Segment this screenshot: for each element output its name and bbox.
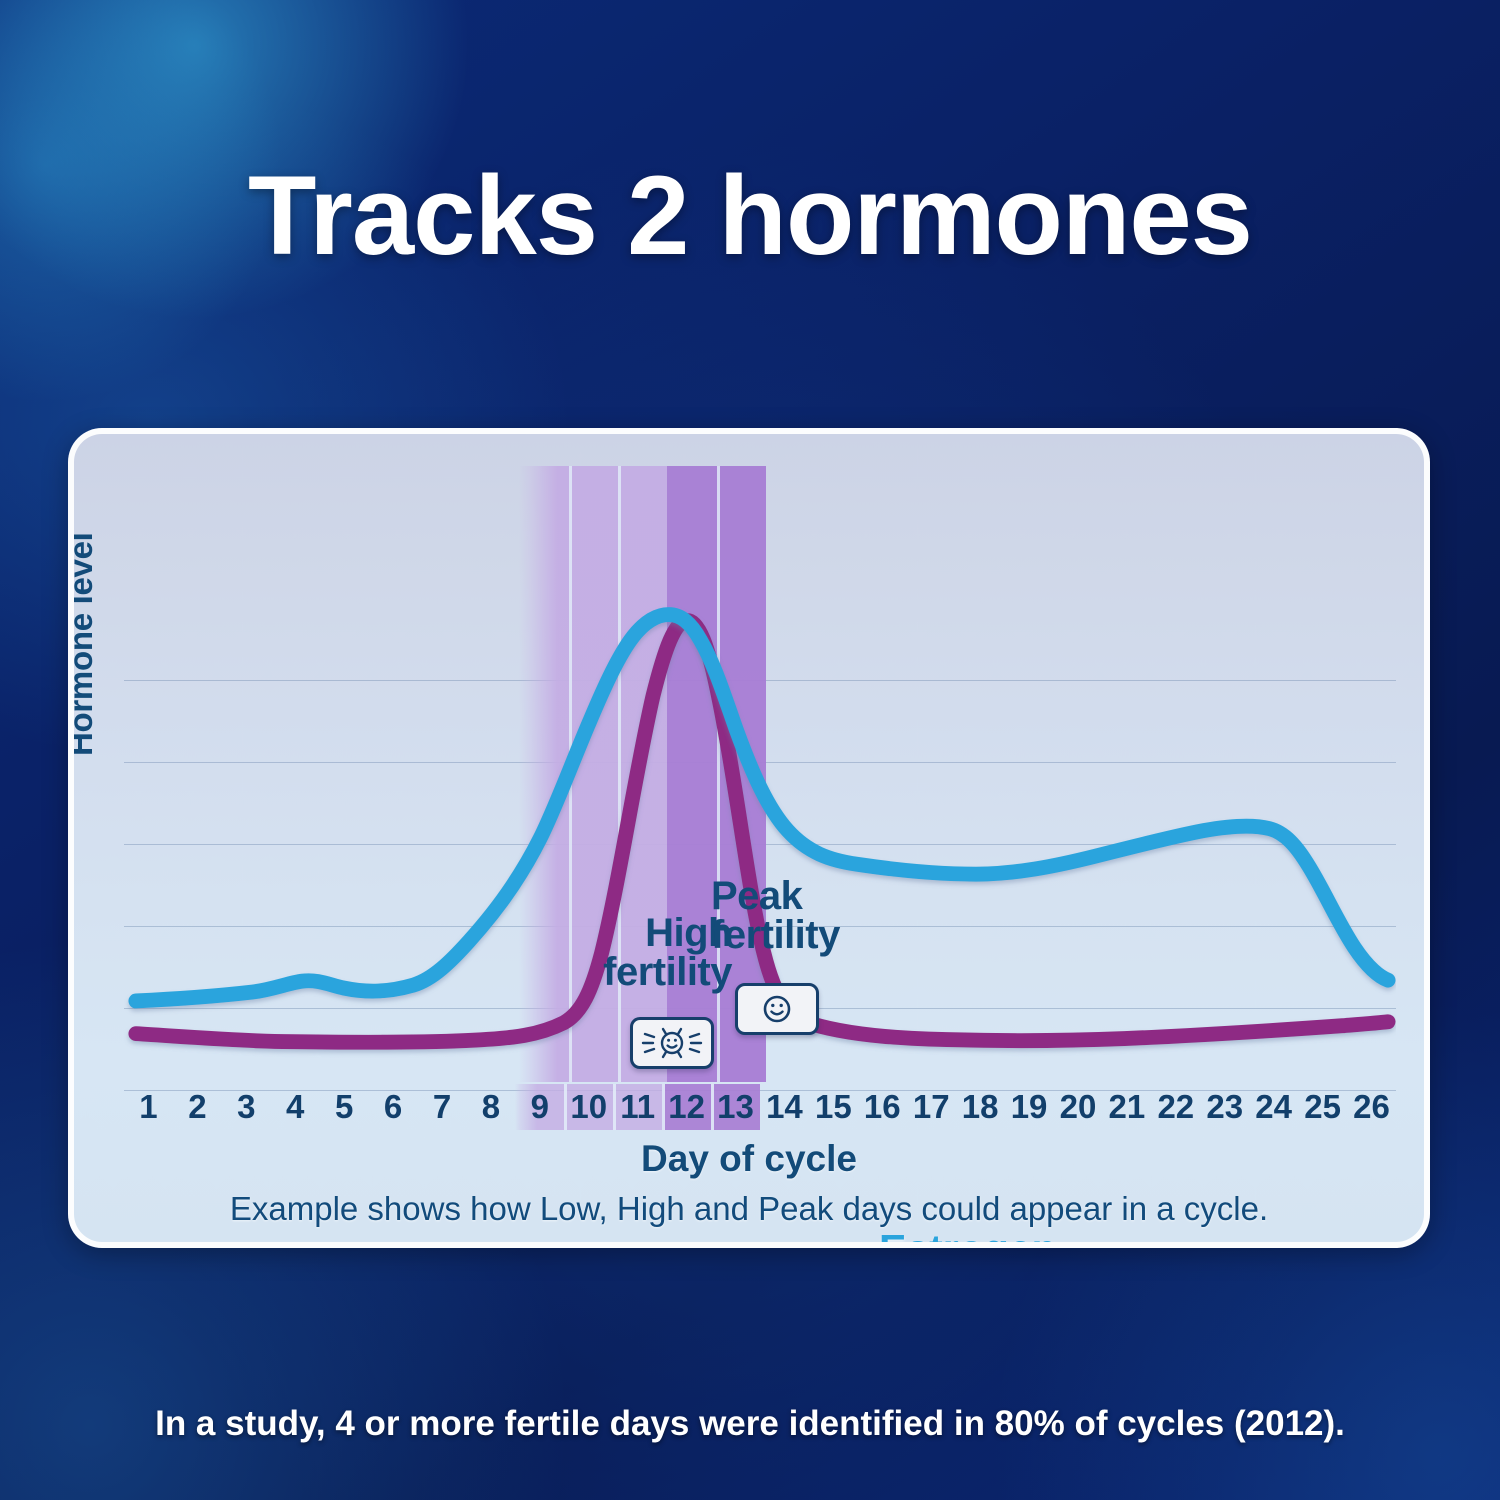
x-axis-day-7: 7	[418, 1084, 467, 1130]
y-axis-label: Hormone level	[68, 532, 100, 756]
x-axis-day-8: 8	[466, 1084, 515, 1130]
x-axis-day-13: 13	[711, 1084, 760, 1130]
footer-note: In a study, 4 or more fertile days were …	[0, 1404, 1500, 1444]
x-axis-day-2: 2	[173, 1084, 222, 1130]
x-axis-day-15: 15	[809, 1084, 858, 1130]
x-axis-day-23: 23	[1200, 1084, 1249, 1130]
x-axis-day-14: 14	[760, 1084, 809, 1130]
x-axis-day-9: 9	[515, 1084, 564, 1130]
estrogen-series-label: Estrogen	[879, 1226, 1057, 1248]
x-axis-day-6: 6	[369, 1084, 418, 1130]
x-axis-day-16: 16	[858, 1084, 907, 1130]
x-axis-day-26: 26	[1347, 1084, 1396, 1130]
x-axis-day-25: 25	[1298, 1084, 1347, 1130]
high-fertility-line-1: High	[552, 914, 732, 953]
flashing-smiley-icon	[630, 1017, 714, 1069]
x-axis-day-5: 5	[320, 1084, 369, 1130]
chart-caption: Example shows how Low, High and Peak day…	[74, 1190, 1424, 1228]
x-axis-day-12: 12	[662, 1084, 711, 1130]
x-axis-day-3: 3	[222, 1084, 271, 1130]
x-axis-day-17: 17	[907, 1084, 956, 1130]
x-axis-day-scale: 1234567891011121314151617181920212223242…	[124, 1084, 1396, 1130]
x-axis-day-22: 22	[1151, 1084, 1200, 1130]
solid-smiley-icon	[735, 983, 819, 1035]
x-axis-day-11: 11	[613, 1084, 662, 1130]
x-axis-day-10: 10	[564, 1084, 613, 1130]
x-axis-day-24: 24	[1249, 1084, 1298, 1130]
page-title: Tracks 2 hormones	[0, 160, 1500, 272]
x-axis-day-19: 19	[1005, 1084, 1054, 1130]
peak-fertility-line-1: Peak	[711, 877, 891, 916]
x-axis-title: Day of cycle	[74, 1138, 1424, 1180]
x-axis-day-18: 18	[956, 1084, 1005, 1130]
high-fertility-line-2: fertility	[552, 953, 732, 992]
x-axis-day-20: 20	[1054, 1084, 1103, 1130]
high-fertility-annotation: High fertility	[552, 914, 732, 992]
peak-fertility-annotation: Peak fertility	[711, 877, 891, 955]
x-axis-day-21: 21	[1102, 1084, 1151, 1130]
peak-fertility-line-2: fertility	[711, 916, 891, 955]
x-axis-day-4: 4	[271, 1084, 320, 1130]
x-axis-day-1: 1	[124, 1084, 173, 1130]
chart-card: Hormone level Estrogen Luteinizing hormo…	[68, 428, 1430, 1248]
